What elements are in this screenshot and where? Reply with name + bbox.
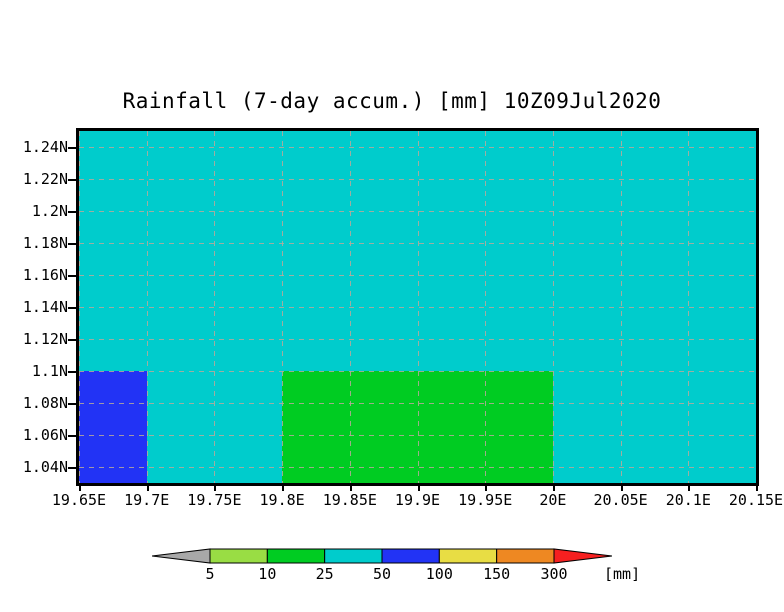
y-axis-tick xyxy=(68,307,76,309)
x-axis-tick xyxy=(418,483,420,491)
gridline-vertical xyxy=(418,131,419,483)
colorbar-band-150-300 xyxy=(497,549,554,563)
y-axis-tick xyxy=(68,147,76,149)
y-axis-label: 1.12N xyxy=(23,330,68,348)
x-axis-tick xyxy=(688,483,690,491)
gridline-vertical xyxy=(621,131,622,483)
gridline-vertical xyxy=(79,131,80,483)
page-title: Rainfall (7-day accum.) [mm] 10Z09Jul202… xyxy=(0,89,784,113)
x-axis-label: 19.85E xyxy=(323,491,377,509)
gridline-vertical xyxy=(688,131,689,483)
y-axis-label: 1.18N xyxy=(23,234,68,252)
x-axis-tick xyxy=(485,483,487,491)
x-axis-label: 19.8E xyxy=(260,491,305,509)
y-axis-tick xyxy=(68,339,76,341)
x-axis-tick xyxy=(79,483,81,491)
y-axis-tick xyxy=(68,403,76,405)
x-axis-tick xyxy=(350,483,352,491)
x-axis-label: 19.75E xyxy=(187,491,241,509)
colorbar-tick-label: 5 xyxy=(205,565,214,583)
colorbar-band-under xyxy=(152,549,210,563)
y-axis-label: 1.04N xyxy=(23,458,68,476)
x-axis-tick xyxy=(214,483,216,491)
gridline-vertical xyxy=(485,131,486,483)
x-axis-tick xyxy=(147,483,149,491)
x-axis-tick xyxy=(553,483,555,491)
x-axis-tick xyxy=(282,483,284,491)
colorbar-swatches xyxy=(152,547,612,565)
colorbar-band-10-25 xyxy=(267,549,324,563)
y-axis-label: 1.16N xyxy=(23,266,68,284)
y-axis-label: 1.06N xyxy=(23,426,68,444)
x-axis-label: 20E xyxy=(539,491,566,509)
x-axis-label: 20.1E xyxy=(666,491,711,509)
y-axis-label: 1.1N xyxy=(32,362,68,380)
y-axis-label: 1.08N xyxy=(23,394,68,412)
gridline-vertical xyxy=(350,131,351,483)
y-axis-tick xyxy=(68,371,76,373)
x-axis-label: 19.7E xyxy=(124,491,169,509)
y-axis-tick xyxy=(68,467,76,469)
colorbar-band-100-150 xyxy=(439,549,496,563)
colorbar xyxy=(152,547,612,565)
y-axis-label: 1.24N xyxy=(23,138,68,156)
x-axis-label: 20.15E xyxy=(729,491,783,509)
y-axis-label: 1.2N xyxy=(32,202,68,220)
colorbar-tick-label: 50 xyxy=(373,565,391,583)
x-axis-label: 20.05E xyxy=(594,491,648,509)
colorbar-tick-label: 300 xyxy=(540,565,567,583)
x-axis-tick xyxy=(621,483,623,491)
y-axis-tick xyxy=(68,435,76,437)
colorbar-tick-label: 25 xyxy=(316,565,334,583)
colorbar-tick-label: 100 xyxy=(426,565,453,583)
colorbar-tick-label: 10 xyxy=(258,565,276,583)
y-axis-label: 1.22N xyxy=(23,170,68,188)
colorbar-band-over xyxy=(554,549,612,563)
map-canvas xyxy=(79,131,756,483)
x-axis-label: 19.95E xyxy=(458,491,512,509)
gridline-vertical xyxy=(147,131,148,483)
colorbar-tick-label: 150 xyxy=(483,565,510,583)
x-axis-label: 19.9E xyxy=(395,491,440,509)
y-axis-tick xyxy=(68,211,76,213)
gridline-vertical xyxy=(553,131,554,483)
colorbar-band-25-50 xyxy=(325,549,382,563)
x-axis-label: 19.65E xyxy=(52,491,106,509)
colorbar-unit-label: [mm] xyxy=(604,565,640,583)
x-axis-tick xyxy=(756,483,758,491)
colorbar-band-5-10 xyxy=(210,549,267,563)
y-axis-tick xyxy=(68,243,76,245)
y-axis-label: 1.14N xyxy=(23,298,68,316)
colorbar-band-50-100 xyxy=(382,549,439,563)
y-axis-tick xyxy=(68,275,76,277)
gridline-vertical xyxy=(214,131,215,483)
map-plot-area xyxy=(76,128,759,486)
gridline-vertical xyxy=(282,131,283,483)
y-axis-tick xyxy=(68,179,76,181)
